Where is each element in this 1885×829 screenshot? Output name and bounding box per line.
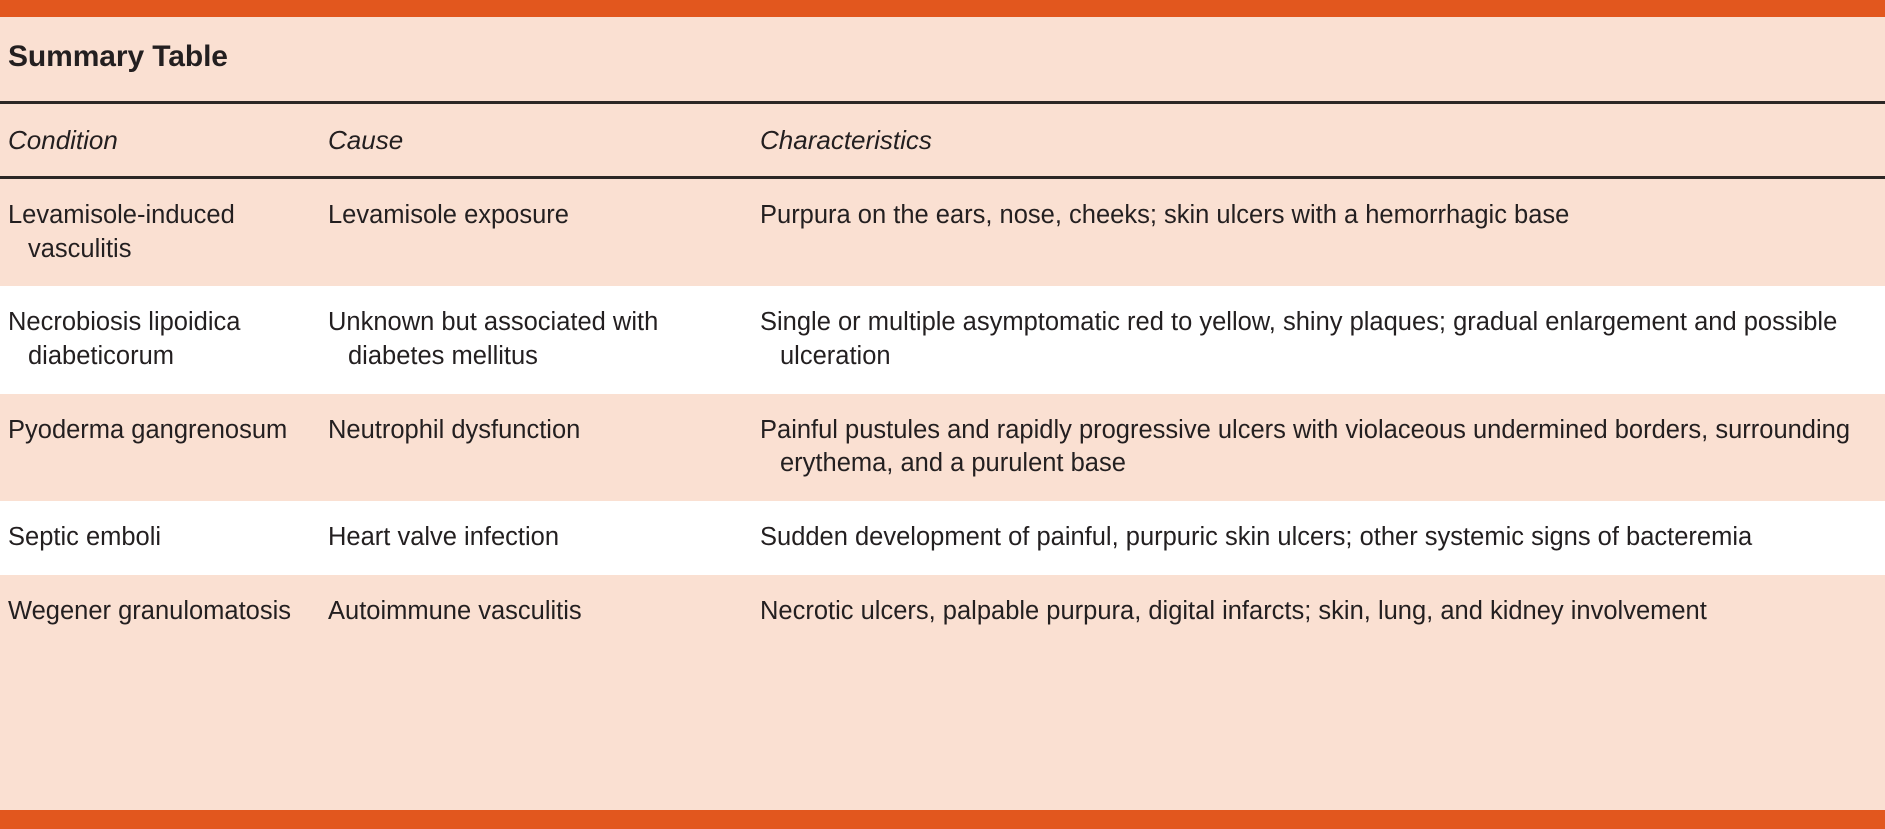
row-cell-cause: Unknown but associated with diabetes mel… (328, 306, 760, 373)
cell-characteristics: Purpura on the ears, nose, cheeks; skin … (780, 199, 1877, 233)
summary-table: Summary Table Condition Cause Characteri… (0, 17, 1885, 810)
cell-condition: Septic emboli (28, 521, 328, 555)
summary-table-page: Summary Table Condition Cause Characteri… (0, 0, 1885, 829)
cell-characteristics: Sudden development of painful, purpuric … (780, 521, 1877, 555)
row-cell-characteristics: Single or multiple asymptomatic red to y… (760, 306, 1885, 373)
cell-cause: Unknown but associated with diabetes mel… (348, 306, 760, 373)
header-cell-condition: Condition (0, 126, 328, 155)
cell-condition: Necrobiosis lipoidica diabeticorum (28, 306, 328, 373)
row-cell-cause: Autoimmune vasculitis (328, 595, 760, 629)
row-cell-condition: Wegener granulomatosis (0, 595, 328, 629)
cell-characteristics: Painful pustules and rapidly progressive… (780, 414, 1877, 481)
table-header-row: Condition Cause Characteristics (0, 104, 1885, 176)
cell-cause: Autoimmune vasculitis (348, 595, 760, 629)
row-cell-cause: Neutrophil dysfunction (328, 414, 760, 448)
row-cell-condition: Necrobiosis lipoidica diabeticorum (0, 306, 328, 373)
cell-condition: Pyoderma gangrenosum (28, 414, 328, 448)
cell-characteristics: Single or multiple asymptomatic red to y… (780, 306, 1877, 373)
column-header-characteristics: Characteristics (780, 126, 1877, 155)
page-title: Summary Table (8, 41, 1885, 73)
row-cell-characteristics: Necrotic ulcers, palpable purpura, digit… (760, 595, 1885, 629)
cell-condition: Wegener granulomatosis (28, 595, 328, 629)
header-cell-characteristics: Characteristics (760, 126, 1885, 155)
row-cell-condition: Levamisole-induced vasculitis (0, 199, 328, 266)
table-row: Wegener granulomatosis Autoimmune vascul… (0, 575, 1885, 810)
cell-cause: Neutrophil dysfunction (348, 414, 760, 448)
table-row: Pyoderma gangrenosum Neutrophil dysfunct… (0, 394, 1885, 501)
table-row: Septic emboli Heart valve infection Sudd… (0, 501, 1885, 575)
cell-characteristics: Necrotic ulcers, palpable purpura, digit… (780, 595, 1877, 629)
column-header-cause: Cause (348, 126, 760, 155)
header-cell-cause: Cause (328, 126, 760, 155)
row-cell-condition: Pyoderma gangrenosum (0, 414, 328, 448)
row-cell-characteristics: Purpura on the ears, nose, cheeks; skin … (760, 199, 1885, 233)
cell-cause: Levamisole exposure (348, 199, 760, 233)
row-cell-characteristics: Sudden development of painful, purpuric … (760, 521, 1885, 555)
row-cell-characteristics: Painful pustules and rapidly progressive… (760, 414, 1885, 481)
title-band: Summary Table (0, 17, 1885, 101)
cell-condition: Levamisole-induced vasculitis (28, 199, 328, 266)
row-cell-condition: Septic emboli (0, 521, 328, 555)
row-cell-cause: Levamisole exposure (328, 199, 760, 233)
bottom-accent-bar (0, 810, 1885, 829)
table-row: Necrobiosis lipoidica diabeticorum Unkno… (0, 286, 1885, 393)
row-cell-cause: Heart valve infection (328, 521, 760, 555)
column-header-condition: Condition (28, 126, 328, 155)
top-accent-bar (0, 0, 1885, 17)
cell-cause: Heart valve infection (348, 521, 760, 555)
table-row: Levamisole-induced vasculitis Levamisole… (0, 179, 1885, 286)
